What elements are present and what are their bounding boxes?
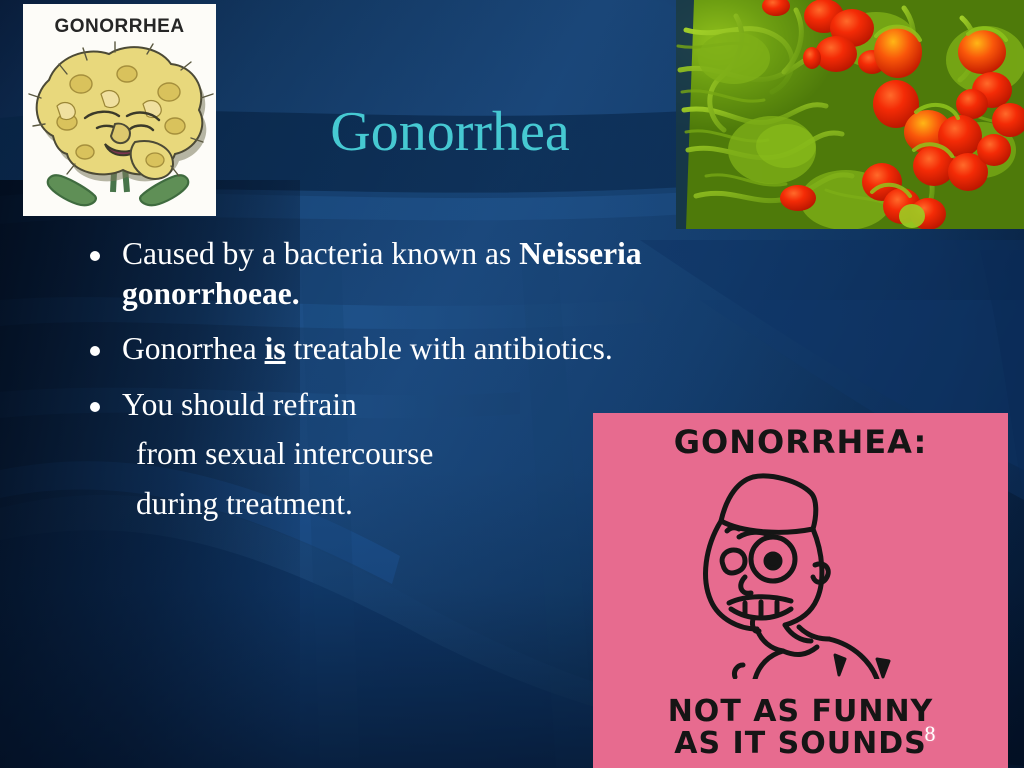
bullet-1-lines: Caused by a bacteria known as Neisseriag…	[122, 238, 958, 317]
slide-body: Caused by a bacteria known as Neisseriag…	[78, 238, 958, 543]
image-gonorrhea-cartoon: GONORRHEA	[23, 4, 216, 216]
page-title: Gonorrhea	[230, 103, 670, 162]
cartoon-bacteria-illustration	[23, 40, 216, 216]
bullet-marker-icon	[90, 251, 100, 261]
bullet-2-lines: Gonorrhea is treatable with antibiotics.	[122, 333, 958, 373]
text-run: Gonorrhea	[122, 331, 265, 366]
bullet-1-line-1: Caused by a bacteria known as Neisseria	[122, 238, 958, 278]
meme-bottom-line-1: NOT AS FUNNY	[593, 696, 1008, 728]
bullet-item-1: Caused by a bacteria known as Neisseriag…	[78, 238, 958, 317]
meme-bottom-line-2: AS IT SOUNDS	[593, 728, 1008, 760]
bullet-item-3: You should refrainfrom sexual intercours…	[78, 389, 958, 538]
text-run: from sexual intercourse	[136, 436, 433, 471]
bullet-marker-icon	[90, 402, 100, 412]
image-gonorrhea-micrograph	[676, 0, 1024, 229]
bullet-3-line-1: You should refrain	[122, 389, 958, 439]
text-run: Caused by a bacteria known as	[122, 236, 519, 271]
cartoon-caption: GONORRHEA	[23, 16, 216, 38]
text-run: gonorrhoeae.	[122, 276, 300, 311]
bullet-3-line-2: from sexual intercourse	[122, 438, 958, 488]
text-run: treatable with antibiotics.	[286, 331, 613, 366]
bullet-marker-icon	[90, 346, 100, 356]
text-run: during treatment.	[136, 486, 353, 521]
bullet-3-lines: You should refrainfrom sexual intercours…	[122, 389, 958, 538]
bullet-3-line-3: during treatment.	[122, 488, 958, 538]
bullet-item-2: Gonorrhea is treatable with antibiotics.	[78, 333, 958, 373]
text-run: Neisseria	[519, 236, 641, 271]
text-run: is	[265, 331, 286, 366]
meme-bottom-text: NOT AS FUNNY AS IT SOUNDS	[593, 696, 1008, 760]
presentation-slide: GONORRHEA	[0, 0, 1024, 768]
bullet-2-line-1: Gonorrhea is treatable with antibiotics.	[122, 333, 958, 373]
text-run: You should refrain	[122, 387, 357, 422]
slide-number: 8	[918, 721, 942, 747]
micrograph-bacteria-layer	[676, 0, 1024, 229]
bullet-1-line-2: gonorrhoeae.	[122, 278, 958, 318]
